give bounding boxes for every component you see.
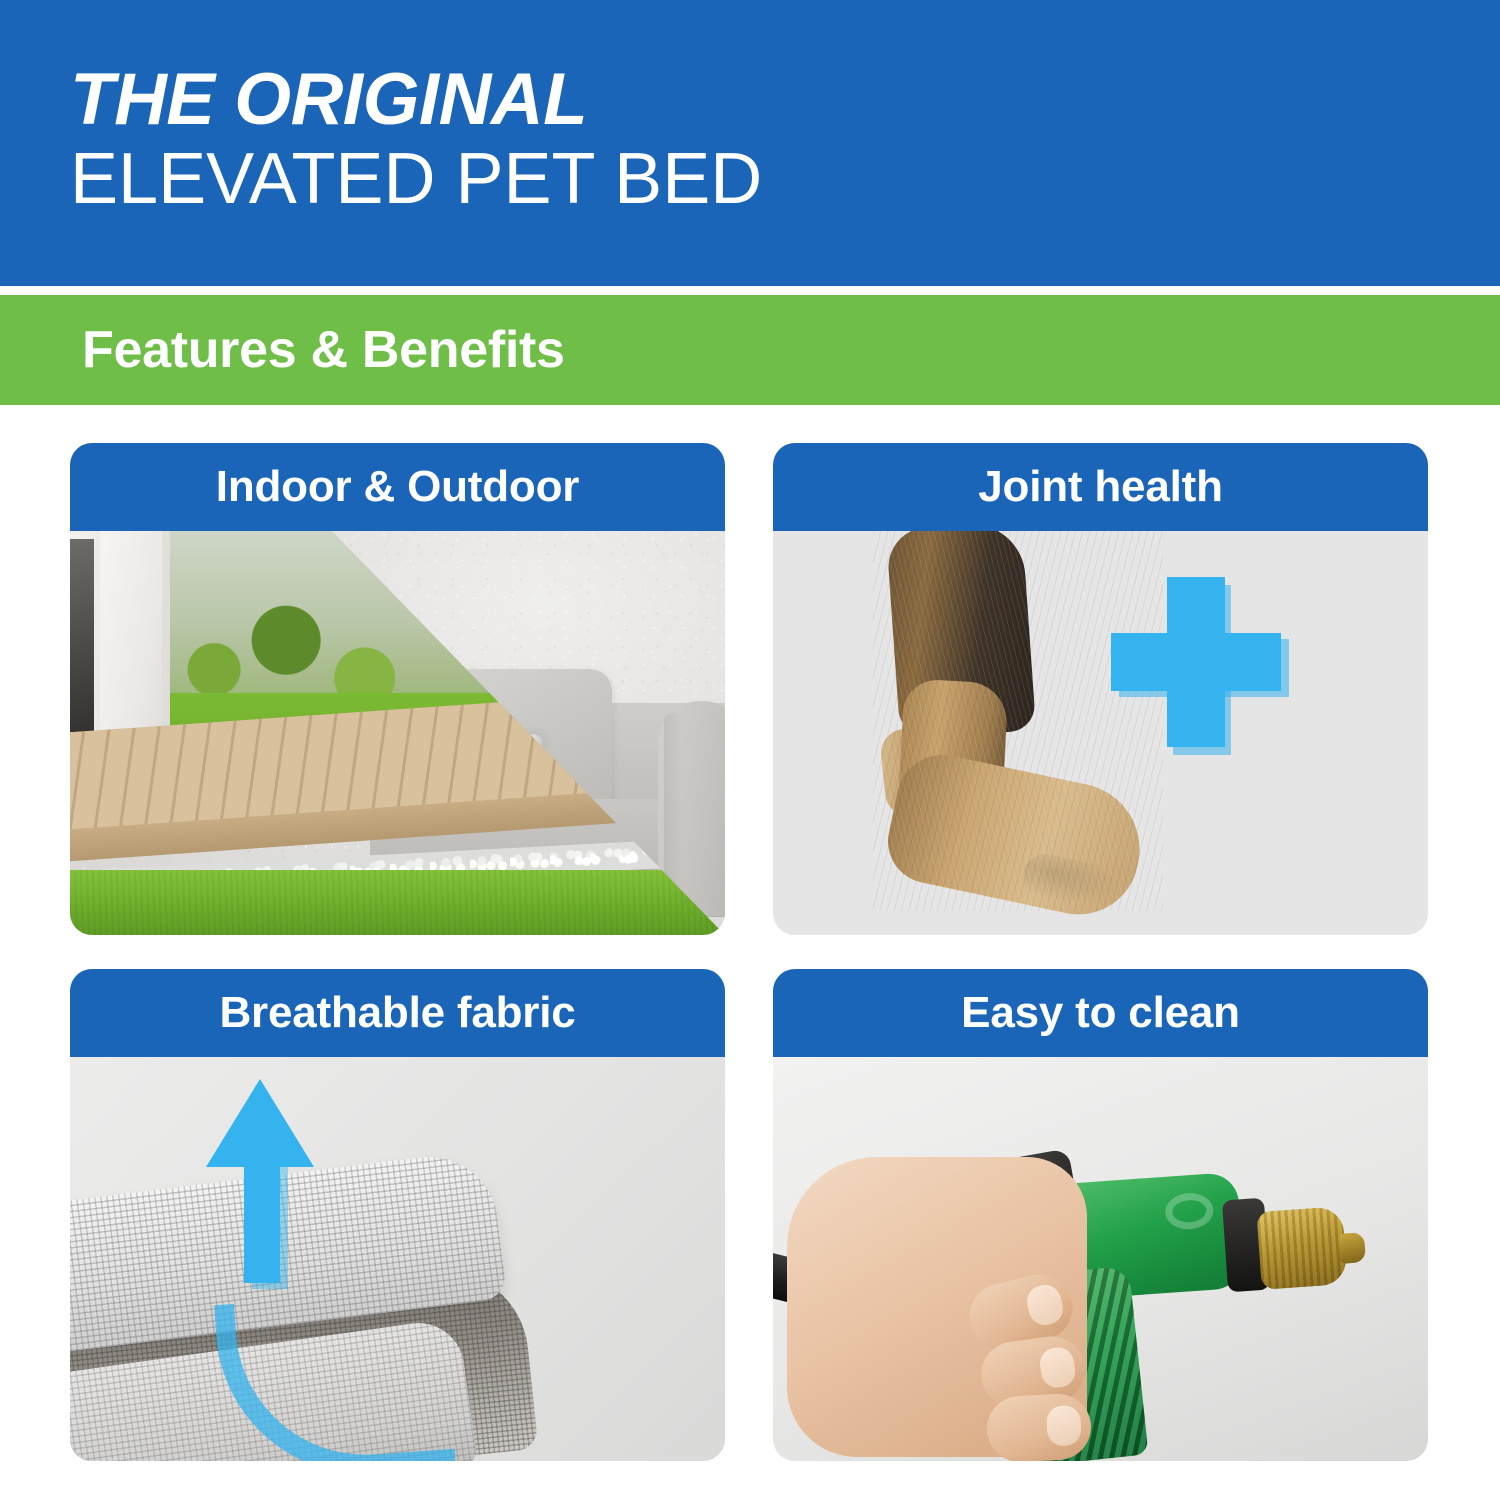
card-title-joint-health: Joint health bbox=[978, 463, 1223, 511]
page-title-line2: ELEVATED PET BED bbox=[70, 138, 1500, 220]
finger-nail bbox=[1038, 1345, 1077, 1389]
card-header-breathable-fabric: Breathable fabric bbox=[70, 969, 725, 1057]
card-title-indoor-outdoor: Indoor & Outdoor bbox=[216, 463, 579, 511]
house-window bbox=[70, 539, 94, 749]
medical-cross-horizontal bbox=[1111, 633, 1281, 691]
card-title-breathable-fabric: Breathable fabric bbox=[219, 989, 575, 1037]
up-arrow-shaft bbox=[244, 1155, 280, 1283]
card-title-easy-to-clean: Easy to clean bbox=[961, 989, 1240, 1037]
features-banner: Features & Benefits bbox=[0, 295, 1500, 405]
page-header: THE ORIGINAL ELEVATED PET BED bbox=[0, 0, 1500, 286]
feature-card-joint-health: Joint health bbox=[773, 443, 1428, 935]
features-banner-title: Features & Benefits bbox=[82, 322, 565, 378]
card-image-indoor-outdoor bbox=[70, 531, 725, 935]
up-arrow-head bbox=[206, 1079, 314, 1167]
card-image-breathable-fabric bbox=[70, 1057, 725, 1461]
infographic-page: THE ORIGINAL ELEVATED PET BED Features &… bbox=[0, 0, 1500, 1500]
feature-card-easy-to-clean: Easy to clean bbox=[773, 969, 1428, 1461]
mesh-fabric-scene bbox=[70, 1057, 725, 1461]
dog-leg-scene bbox=[773, 531, 1428, 935]
hose-nozzle-scene bbox=[773, 1057, 1428, 1461]
card-image-easy-to-clean bbox=[773, 1057, 1428, 1461]
hand-finger bbox=[985, 1392, 1092, 1461]
card-header-indoor-outdoor: Indoor & Outdoor bbox=[70, 443, 725, 531]
nozzle-brass-tip bbox=[1338, 1232, 1366, 1264]
dog-paw bbox=[880, 746, 1152, 925]
up-arrow-icon bbox=[206, 1079, 314, 1279]
outdoor-lawn-lower bbox=[70, 870, 725, 935]
finger-nail bbox=[1046, 1405, 1082, 1447]
medical-cross-icon bbox=[1111, 577, 1281, 747]
card-image-joint-health bbox=[773, 531, 1428, 935]
page-title-line1: THE ORIGINAL bbox=[70, 62, 1500, 138]
feature-card-grid: Indoor & Outdoor bbox=[70, 443, 1428, 1461]
header-banner-divider bbox=[0, 286, 1500, 295]
finger-nail bbox=[1024, 1281, 1067, 1328]
nozzle-brass-ring bbox=[1256, 1206, 1347, 1290]
card-header-joint-health: Joint health bbox=[773, 443, 1428, 531]
feature-card-indoor-outdoor: Indoor & Outdoor bbox=[70, 443, 725, 935]
feature-card-breathable-fabric: Breathable fabric bbox=[70, 969, 725, 1461]
card-header-easy-to-clean: Easy to clean bbox=[773, 969, 1428, 1057]
indoor-outdoor-scene bbox=[70, 531, 725, 935]
